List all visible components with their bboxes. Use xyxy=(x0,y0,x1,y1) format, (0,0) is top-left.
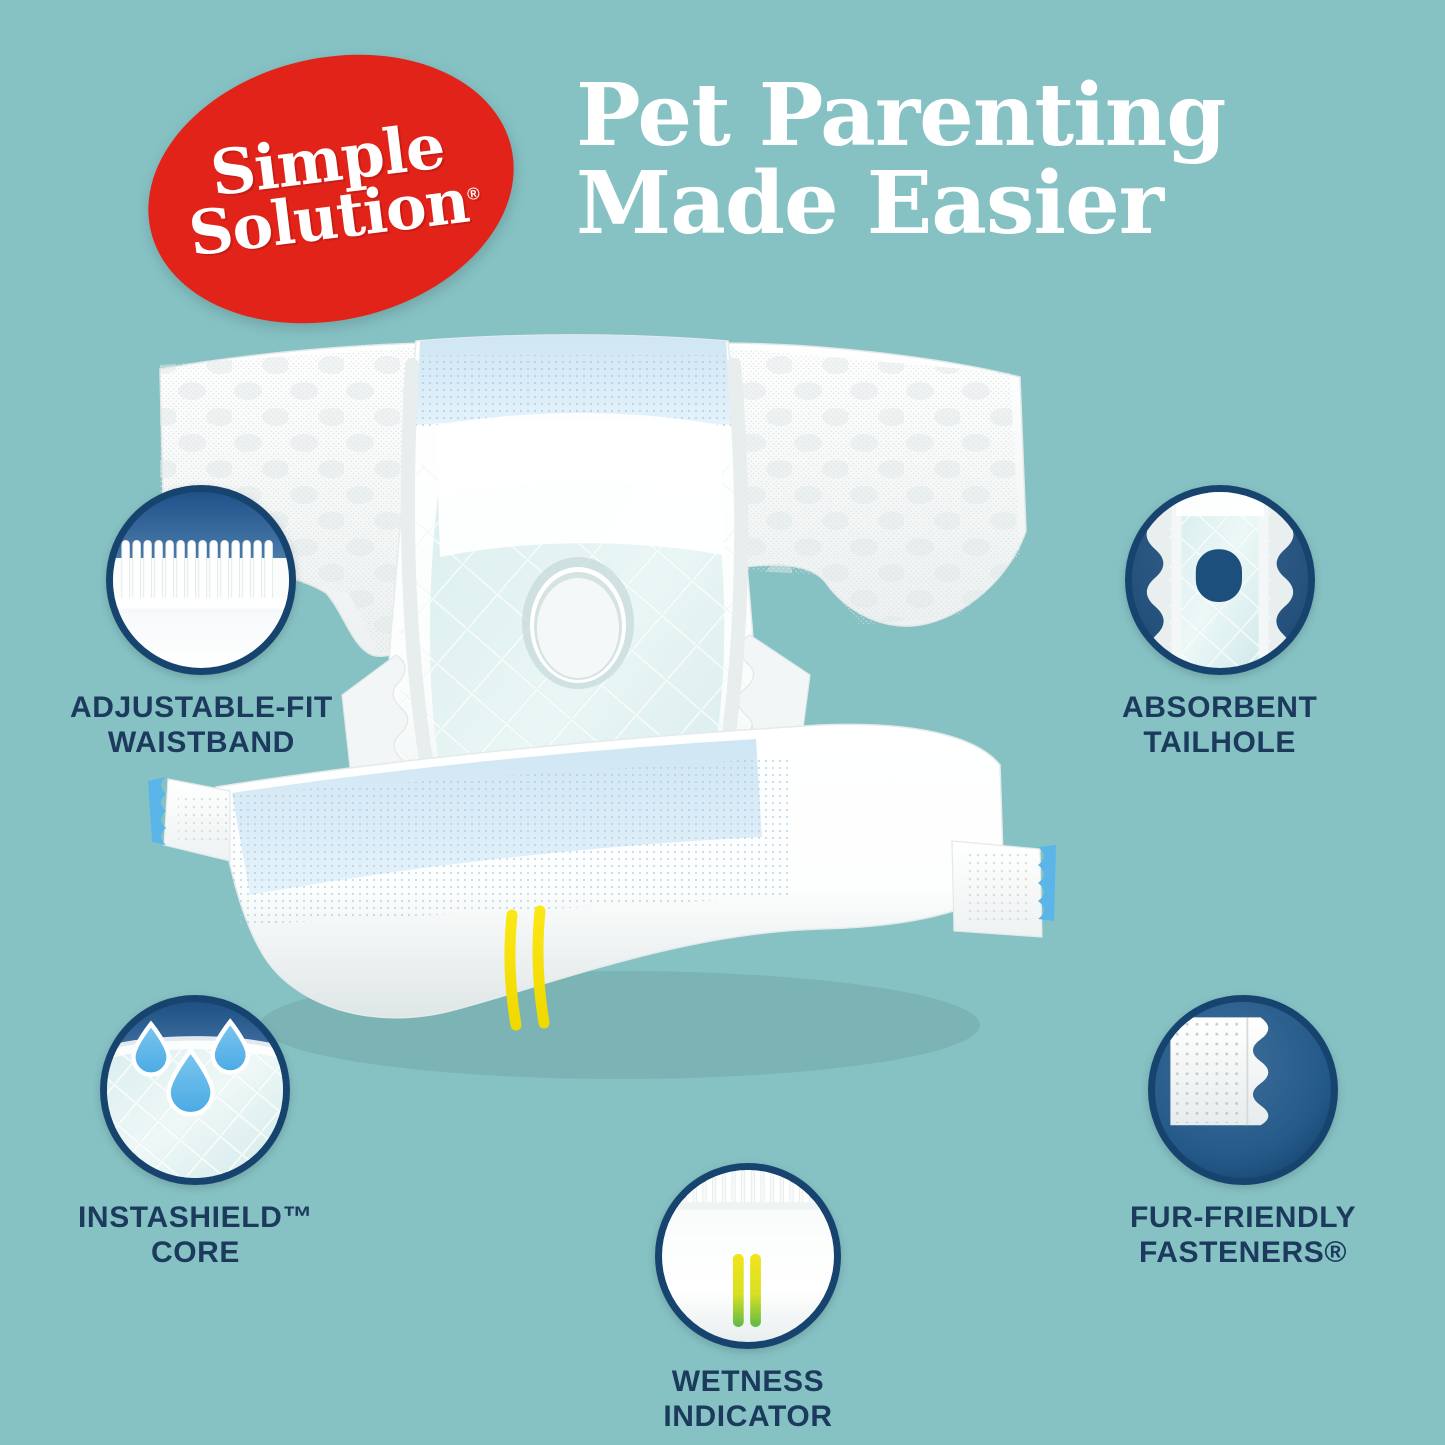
label-line-2: FASTENERS® xyxy=(1139,1236,1347,1269)
feature-badge-label: ABSORBENT TAILHOLE xyxy=(1122,691,1317,761)
fastener-tab-right xyxy=(952,841,1056,937)
feature-badge-tailhole: ABSORBENT TAILHOLE xyxy=(1122,485,1317,761)
label-line-2: CORE xyxy=(151,1236,240,1269)
label-line-1: FUR-FRIENDLY xyxy=(1130,1201,1356,1234)
label-line-2: WAISTBAND xyxy=(108,726,295,759)
fastener-tab-left xyxy=(148,777,230,861)
feature-badge-waistband: ADJUSTABLE-FIT WAISTBAND xyxy=(70,485,333,761)
elastic-waistband-icon xyxy=(106,485,296,675)
label-line-1: ABSORBENT xyxy=(1122,691,1317,724)
tailhole xyxy=(522,557,634,689)
feature-badge-label: FUR-FRIENDLY FASTENERS® xyxy=(1130,1201,1356,1271)
infographic-canvas: Simple Solution® Pet Parenting Made Easi… xyxy=(0,0,1445,1445)
brand-logo: Simple Solution® xyxy=(146,58,516,320)
label-line-1: INSTASHIELD™ xyxy=(78,1201,313,1234)
feature-badge-instashield: INSTASHIELD™ CORE xyxy=(78,995,313,1271)
tab-edge-blue-left xyxy=(148,777,166,845)
water-droplets-icon xyxy=(100,995,290,1185)
headline-line-1: Pet Parenting xyxy=(576,72,1336,160)
page-title: Pet Parenting Made Easier xyxy=(576,72,1336,247)
headline-line-2: Made Easier xyxy=(576,160,1336,248)
feature-badge-label: ADJUSTABLE-FIT WAISTBAND xyxy=(70,691,333,761)
tailhole-icon xyxy=(1125,485,1315,675)
label-line-2: TAILHOLE xyxy=(1143,726,1296,759)
feature-badge-label: WETNESS INDICATOR xyxy=(663,1365,832,1435)
feature-badge-wetness: WETNESS INDICATOR xyxy=(655,1163,841,1435)
logo-wordmark: Simple Solution® xyxy=(131,36,530,341)
wetness-stripes-icon xyxy=(655,1163,841,1349)
fastener-patch-icon xyxy=(1148,995,1338,1185)
label-line-2: INDICATOR xyxy=(663,1400,832,1433)
label-line-1: ADJUSTABLE-FIT xyxy=(70,691,333,724)
label-line-1: WETNESS xyxy=(672,1365,825,1398)
feature-badge-fasteners: FUR-FRIENDLY FASTENERS® xyxy=(1130,995,1356,1271)
registered-mark-icon: ® xyxy=(466,184,480,204)
feature-badge-label: INSTASHIELD™ CORE xyxy=(78,1201,313,1271)
